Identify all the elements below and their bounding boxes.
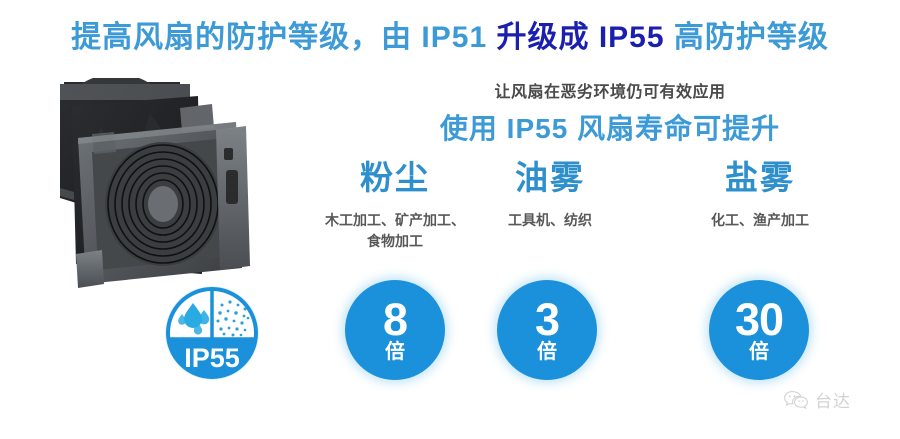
multiplier-value: 30 bbox=[735, 300, 783, 340]
multiplier-unit: 倍 bbox=[385, 341, 405, 363]
category-description-oil-mist: 工具机、纺织 bbox=[455, 210, 645, 231]
multiplier-badge-salt-spray: 30 倍 bbox=[709, 280, 809, 380]
category-heading-oil-mist: 油雾 bbox=[455, 158, 645, 198]
subheading-secondary: 使用 IP55 风扇寿命可提升 bbox=[320, 107, 900, 147]
multiplier-value: 3 bbox=[535, 300, 559, 340]
multiplier-badge-oil-mist: 3 倍 bbox=[497, 280, 597, 380]
watermark: 台达 bbox=[783, 387, 851, 412]
category-description-line: 食物加工 bbox=[300, 231, 490, 252]
multiplier-badge-dust: 8 倍 bbox=[345, 280, 445, 380]
ip55-badge-label: IP55 bbox=[184, 343, 240, 373]
multiplier-value: 8 bbox=[383, 300, 407, 340]
wechat-logo-icon bbox=[783, 390, 809, 410]
category-description-line: 化工、渔产加工 bbox=[665, 210, 855, 231]
title-segment-highlight: 升级成 IP55 bbox=[496, 21, 664, 54]
multiplier-unit: 倍 bbox=[749, 341, 769, 363]
page-title: 提高风扇的防护等级，由 IP51 升级成 IP55 高防护等级 bbox=[0, 18, 900, 58]
category-description-salt-spray: 化工、渔产加工 bbox=[665, 210, 855, 231]
multiplier-unit: 倍 bbox=[537, 341, 557, 363]
watermark-text: 台达 bbox=[815, 387, 851, 412]
category-column-salt-spray: 盐雾 化工、渔产加工 bbox=[665, 158, 855, 231]
category-column-oil-mist: 油雾 工具机、纺织 bbox=[455, 158, 645, 231]
industrial-fan-photo bbox=[30, 78, 290, 310]
poster-canvas: 提高风扇的防护等级，由 IP51 升级成 IP55 高防护等级 让风扇在恶劣环境… bbox=[0, 0, 900, 439]
title-segment-tail: 高防护等级 bbox=[665, 21, 829, 54]
category-description-line: 工具机、纺织 bbox=[455, 210, 645, 231]
subheading-primary: 让风扇在恶劣环境仍可有效应用 bbox=[320, 78, 900, 102]
ip55-badge: IP55 bbox=[160, 283, 264, 383]
category-heading-salt-spray: 盐雾 bbox=[665, 158, 855, 198]
title-segment-lead: 提高风扇的防护等级，由 IP51 bbox=[71, 21, 496, 54]
